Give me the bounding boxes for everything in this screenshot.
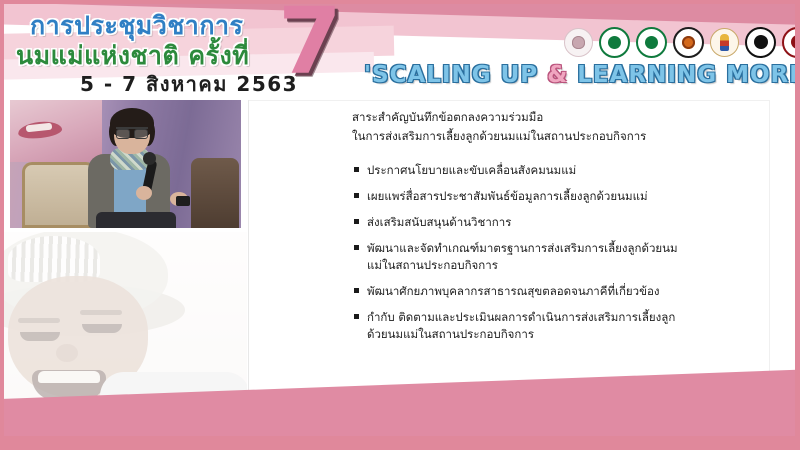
seal-glyph bbox=[791, 35, 796, 49]
backdrop-poster bbox=[10, 100, 102, 162]
speaker-hand-mic bbox=[136, 186, 152, 200]
vertical-divider bbox=[248, 100, 249, 400]
red-university-seal-logo bbox=[782, 27, 795, 58]
speaker-lap-shadow bbox=[96, 212, 176, 228]
edition-number: 7 bbox=[278, 4, 342, 88]
black-seal-logo bbox=[745, 27, 776, 58]
royal-emblem-glyph bbox=[720, 34, 729, 51]
garuda-crest-logo bbox=[673, 27, 704, 58]
royal-thai-emblem-logo bbox=[710, 28, 739, 57]
conference-date: 5 - 7 สิงหาคม 2563 bbox=[80, 68, 298, 94]
list-item: พัฒนาและจัดทำเกณฑ์มาตรฐานการส่งเสริมการเ… bbox=[352, 240, 682, 274]
armchair-right bbox=[191, 158, 239, 228]
presentation-clicker bbox=[176, 196, 190, 206]
microphone-head bbox=[143, 152, 156, 165]
seal-glyph bbox=[754, 35, 768, 49]
sponsor-logos-row: สสส สำนักงานกองทุนสนับสนุนการสร้างเสริมส… bbox=[564, 27, 795, 57]
list-item: กำกับ ติดตามและประเมินผลการดำเนินการส่งเ… bbox=[352, 309, 682, 343]
lead-line-1: สาระสำคัญบันทึกข้อตกลงความร่วมมือ bbox=[352, 108, 682, 127]
child-background-photo bbox=[4, 232, 247, 412]
slogan-part-learning-more: LEARNING MORE' bbox=[568, 62, 795, 88]
department-of-health-logo bbox=[636, 27, 667, 58]
caduceus-glyph bbox=[608, 36, 621, 49]
presentation-slide: การประชุมวิชาการ นมแม่แห่งชาติ ครั้งที่ … bbox=[0, 0, 800, 450]
list-item: พัฒนาศักยภาพบุคลากรสาธารณสุขตลอดจนภาคีที… bbox=[352, 283, 682, 300]
eyeglasses-icon bbox=[116, 127, 148, 137]
list-item: ส่งเสริมสนับสนุนด้านวิชาการ bbox=[352, 214, 682, 231]
slide-header-banner: การประชุมวิชาการ นมแม่แห่งชาติ ครั้งที่ … bbox=[4, 4, 795, 94]
slogan-part-scaling-up: 'SCALING UP bbox=[364, 62, 547, 88]
mother-child-glyph bbox=[572, 36, 585, 49]
caduceus-glyph bbox=[645, 36, 658, 49]
slogan-ampersand: & bbox=[547, 62, 568, 88]
list-item: ประกาศนโยบายและขับเคลื่อนสังคมนมแม่ bbox=[352, 162, 682, 179]
garuda-glyph bbox=[682, 36, 695, 49]
armchair-left bbox=[22, 162, 96, 228]
speaker-video-panel[interactable] bbox=[10, 100, 241, 228]
lead-line-2: ในการส่งเสริมการเลี้ยงลูกด้วยนมแม่ในสถาน… bbox=[352, 127, 682, 146]
list-item: เผยแพร่สื่อสารประชาสัมพันธ์ข้อมูลการเลี้… bbox=[352, 188, 682, 205]
mother-child-emblem-logo bbox=[564, 28, 593, 57]
bullet-list: ประกาศนโยบายและขับเคลื่อนสังคมนมแม่ เผยแ… bbox=[352, 162, 682, 343]
ministry-of-public-health-logo bbox=[599, 27, 630, 58]
bottom-pink-band bbox=[0, 436, 800, 450]
photo-fade-overlay bbox=[4, 232, 247, 412]
slide-body: สาระสำคัญบันทึกข้อตกลงความร่วมมือ ในการส… bbox=[352, 108, 682, 352]
conference-slogan: 'SCALING UP & LEARNING MORE' bbox=[364, 62, 795, 88]
